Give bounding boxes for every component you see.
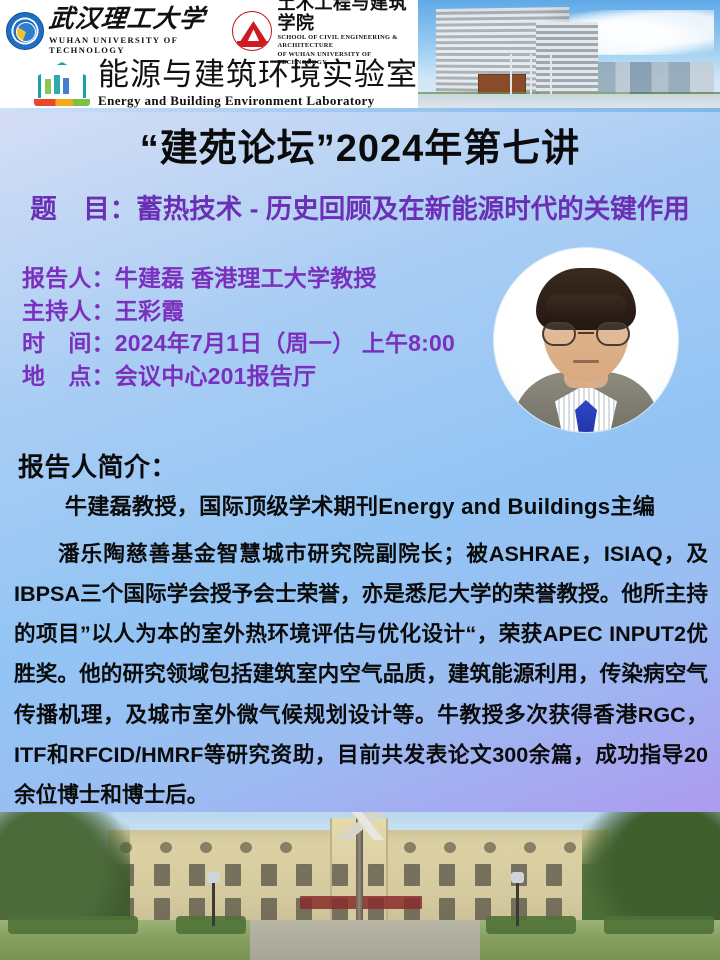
detail-place: 地 点：会议中心201报告厅 bbox=[22, 360, 492, 393]
bio-body-text: 潘乐陶慈善基金智慧城市研究院副院长；被ASHRAE，ISIAQ，及IBPSA三个… bbox=[14, 534, 708, 815]
footer-photo-lamp-post bbox=[516, 880, 519, 926]
header-photo-flagpole bbox=[550, 54, 552, 94]
footer-photo-hedge bbox=[486, 916, 576, 934]
header-logo-group: 武汉理工大学 WUHAN UNIVERSITY OF TECHNOLOGY 土木… bbox=[0, 0, 418, 112]
header-photo-flagpole bbox=[510, 54, 512, 94]
footer-photo-hedge bbox=[8, 916, 138, 934]
portrait-mouth bbox=[573, 360, 599, 363]
civil-engineering-seal-icon bbox=[232, 11, 272, 51]
event-details: 报告人：牛建磊 香港理工大学教授 主持人：王彩霞 时 间：2024年7月1日（周… bbox=[22, 262, 492, 393]
speaker-portrait-photo bbox=[494, 248, 678, 432]
footer-photo-hedge bbox=[604, 916, 714, 934]
detail-time: 时 间：2024年7月1日（周一） 上午8:00 bbox=[22, 327, 492, 360]
header-photo-distant-buildings bbox=[594, 62, 714, 96]
page-title: “建苑论坛”2024年第七讲 bbox=[0, 128, 720, 172]
university-name-cn: 武汉理工大学 bbox=[48, 7, 224, 33]
header-divider bbox=[0, 108, 720, 112]
detail-host: 主持人：王彩霞 bbox=[22, 295, 492, 328]
school-name-cn: 土木工程与建筑学院 bbox=[277, 0, 418, 34]
university-name-en: WUHAN UNIVERSITY OF TECHNOLOGY bbox=[49, 35, 222, 55]
lecture-subject: 题 目：蓄热技术 - 历史回顾及在新能源时代的关键作用 bbox=[0, 194, 720, 226]
lab-house-base bbox=[34, 99, 90, 106]
wuhan-university-seal-icon bbox=[6, 12, 44, 50]
lab-house-bars bbox=[45, 75, 69, 94]
header-logo-row-top: 武汉理工大学 WUHAN UNIVERSITY OF TECHNOLOGY 土木… bbox=[6, 4, 418, 58]
bio-heading: 报告人简介： bbox=[18, 447, 177, 484]
lab-name-block: 能源与建筑环境实验室 Energy and Building Environme… bbox=[98, 59, 418, 109]
footer-photo-walkway bbox=[250, 920, 480, 960]
footer-photo-hedge bbox=[176, 916, 246, 934]
university-name-block: 武汉理工大学 WUHAN UNIVERSITY OF TECHNOLOGY bbox=[49, 7, 222, 54]
school-name-en-line1: SCHOOL OF CIVIL ENGINEERING & ARCHITECTU… bbox=[277, 34, 418, 51]
bio-lead-line: 牛建磊教授，国际顶级学术期刊Energy and Buildings主编 bbox=[0, 489, 720, 521]
footer-photo-lamp-post bbox=[212, 880, 215, 926]
header-photo-side-building bbox=[536, 22, 598, 94]
footer-photo-sculpture bbox=[330, 812, 400, 840]
header-logo-row-bottom: 能源与建筑环境实验室 Energy and Building Environme… bbox=[6, 58, 418, 110]
footer-campus-photo bbox=[0, 812, 720, 960]
lab-name-cn: 能源与建筑环境实验室 bbox=[98, 59, 418, 92]
header-campus-photo bbox=[418, 0, 720, 112]
detail-speaker: 报告人：牛建磊 香港理工大学教授 bbox=[22, 262, 492, 295]
portrait-glasses-icon bbox=[540, 322, 632, 348]
poster-header: 武汉理工大学 WUHAN UNIVERSITY OF TECHNOLOGY 土木… bbox=[0, 0, 720, 112]
header-photo-entrance bbox=[478, 74, 526, 94]
lab-house-logo-icon bbox=[34, 62, 90, 106]
lab-name-en: Energy and Building Environment Laborato… bbox=[98, 93, 418, 109]
header-photo-flagpole bbox=[530, 54, 532, 94]
poster-canvas: 武汉理工大学 WUHAN UNIVERSITY OF TECHNOLOGY 土木… bbox=[0, 0, 720, 960]
